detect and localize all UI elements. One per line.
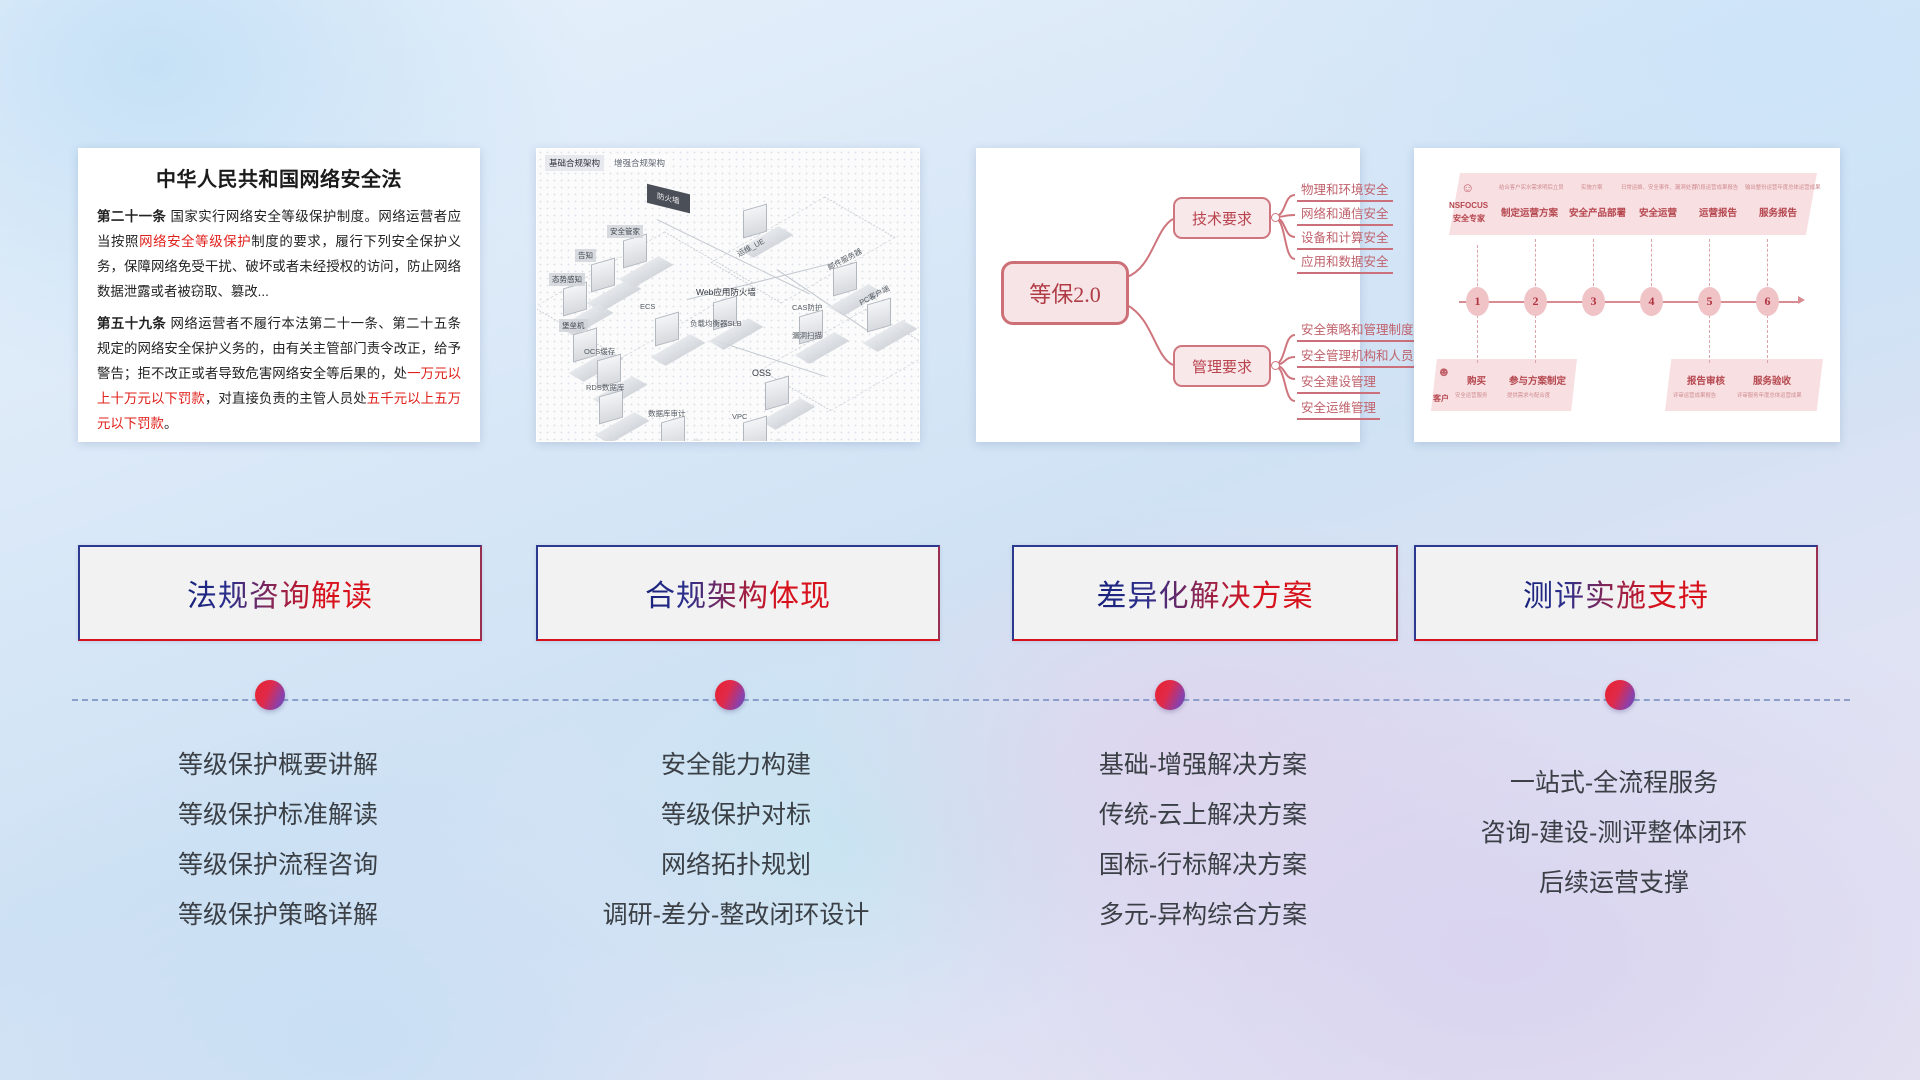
list-item: 后续运营支撑 xyxy=(1414,858,1814,908)
step-6-sub: 输出整份运营年度总体运营成果 xyxy=(1745,183,1820,191)
step-2-main: 制定运营方案 xyxy=(1501,205,1558,219)
step-5-main: 运营报告 xyxy=(1699,205,1737,219)
law-article-59-text-b: ，对直接负责的主管人员处 xyxy=(205,391,367,406)
step-tick xyxy=(1767,315,1768,363)
node-label-db-audit: 数据库审计 xyxy=(645,407,689,420)
detail-column-regulation-consulting: 等级保护概要讲解 等级保护标准解读 等级保护流程咨询 等级保护策略详解 xyxy=(78,740,478,940)
law-article-59-label: 第五十九条 xyxy=(97,316,166,331)
law-article-59-text-c: 。 xyxy=(164,416,177,431)
node-label-security-butler: 安全管家 xyxy=(607,225,643,238)
architecture-diagram: 基础合规架构 增强合规架构 防火墙 安全管家 告知 态势感知 堡垒机 运维_UE… xyxy=(537,149,919,441)
step-3-sub: 实施方案 xyxy=(1581,183,1603,191)
customer-step-plan: 参与方案制定 xyxy=(1509,373,1566,387)
step-tick xyxy=(1535,239,1536,291)
list-item: 等级保护策略详解 xyxy=(78,890,478,940)
customer-step-review: 报告审核 xyxy=(1687,373,1725,387)
law-title: 中华人民共和国网络安全法 xyxy=(97,163,461,192)
customer-step-review-sub: 评审运营成果报告 xyxy=(1673,391,1716,399)
list-item: 等级保护对标 xyxy=(536,790,936,840)
category-button-regulation-consulting[interactable]: 法规咨询解读 xyxy=(78,545,482,641)
timeline-dot-4[interactable] xyxy=(1605,680,1635,710)
detail-list: 等级保护概要讲解 等级保护标准解读 等级保护流程咨询 等级保护策略详解 xyxy=(78,740,478,940)
node-label-slb: 负载均衡器SLB xyxy=(687,317,745,330)
card-compliance-architecture[interactable]: 基础合规架构 增强合规架构 防火墙 安全管家 告知 态势感知 堡垒机 运维_UE… xyxy=(536,148,920,442)
tab-enhanced-architecture[interactable]: 增强合规架构 xyxy=(610,155,669,171)
step-tick xyxy=(1709,239,1710,291)
law-document: 中华人民共和国网络安全法 第二十一条 国家实行网络安全等级保护制度。网络运营者应… xyxy=(79,149,479,441)
list-item: 一站式-全流程服务 xyxy=(1414,758,1814,808)
step-4-main: 安全运营 xyxy=(1639,205,1677,219)
node-label-rds: RDS数据库 xyxy=(583,381,627,394)
detail-list: 安全能力构建 等级保护对标 网络拓扑规划 调研-差分-整改闭环设计 xyxy=(536,740,936,940)
node-icon-rds xyxy=(599,393,645,441)
step-2-sub: 结合客户实水需求明后立员 xyxy=(1499,183,1564,191)
process-step-1[interactable]: 1 xyxy=(1466,287,1489,316)
mindmap-knob-technical[interactable] xyxy=(1271,213,1280,222)
mindmap-leaf-construction-mgmt: 安全建设管理 xyxy=(1297,371,1380,394)
list-item: 基础-增强解决方案 xyxy=(1012,740,1394,790)
step-5-sub: 阶段运营成果报告 xyxy=(1695,183,1738,191)
list-item: 国标-行标解决方案 xyxy=(1012,840,1394,890)
tab-basic-architecture[interactable]: 基础合规架构 xyxy=(545,155,604,171)
node-label-vuln-scan: 漏洞扫描 xyxy=(789,329,825,342)
mindmap-leaf-policy-system: 安全策略和管理制度 xyxy=(1297,319,1418,342)
customer-avatar-icon: ☻ xyxy=(1437,365,1451,378)
node-label-ocs-cache: OCS缓存 xyxy=(581,345,618,358)
list-item: 等级保护流程咨询 xyxy=(78,840,478,890)
mindmap-leaf-network-comm: 网络和通信安全 xyxy=(1297,203,1393,226)
step-3-main: 安全产品部署 xyxy=(1569,205,1626,219)
customer-step-acceptance: 服务验收 xyxy=(1753,373,1791,387)
customer-actor-label: 客户 xyxy=(1433,393,1449,404)
category-button-label: 差异化解决方案 xyxy=(1097,571,1314,615)
timeline-dot-3[interactable] xyxy=(1155,680,1185,710)
category-button-differentiated-solution[interactable]: 差异化解决方案 xyxy=(1012,545,1398,641)
list-item: 咨询-建设-测评整体闭环 xyxy=(1414,808,1814,858)
node-icon-pc-client xyxy=(867,301,913,349)
mindmap-branch-management[interactable]: 管理要求 xyxy=(1173,345,1271,387)
customer-step-purchase-sub: 安全运营服务 xyxy=(1455,391,1487,399)
node-label-situational-awareness: 态势感知 xyxy=(549,273,585,286)
node-label-notify: 告知 xyxy=(575,249,596,262)
process-step-6[interactable]: 6 xyxy=(1756,287,1779,316)
detail-list: 基础-增强解决方案 传统-云上解决方案 国标-行标解决方案 多元-异构综合方案 xyxy=(1012,740,1394,940)
node-label-waf: Web应用防火墙 xyxy=(693,285,759,299)
timeline-dot-2[interactable] xyxy=(715,680,745,710)
list-item: 多元-异构综合方案 xyxy=(1012,890,1394,940)
category-button-label: 测评实施支持 xyxy=(1523,571,1709,615)
detail-column-compliance-architecture: 安全能力构建 等级保护对标 网络拓扑规划 调研-差分-整改闭环设计 xyxy=(536,740,936,940)
card-service-process[interactable]: ☺ NSFOCUS 安全专家 结合客户实水需求明后立员 制定运营方案 实施方案 … xyxy=(1414,148,1840,442)
timeline xyxy=(0,690,1920,720)
mindmap-knob-management[interactable] xyxy=(1271,361,1280,370)
preview-cards-row: 中华人民共和国网络安全法 第二十一条 国家实行网络安全等级保护制度。网络运营者应… xyxy=(0,148,1920,448)
node-label-vpc: VPC xyxy=(729,411,750,422)
mindmap-leaf-ops-mgmt: 安全运维管理 xyxy=(1297,397,1380,420)
node-icon-db-audit xyxy=(661,419,707,441)
customer-step-acceptance-sub: 评审服务年度总体运营成果 xyxy=(1737,391,1802,399)
list-item: 传统-云上解决方案 xyxy=(1012,790,1394,840)
category-button-label: 法规咨询解读 xyxy=(187,571,373,615)
node-label-oss: OSS xyxy=(749,367,774,379)
step-6-main: 服务报告 xyxy=(1759,205,1797,219)
list-item: 调研-差分-整改闭环设计 xyxy=(536,890,936,940)
step-tick xyxy=(1593,239,1594,291)
list-item: 安全能力构建 xyxy=(536,740,936,790)
step-tick xyxy=(1709,315,1710,363)
mindmap-leaf-app-data: 应用和数据安全 xyxy=(1297,251,1393,274)
law-article-21-highlight: 网络安全等级保护 xyxy=(139,234,251,249)
process-axis xyxy=(1459,301,1799,303)
mindmap-leaf-physical-env: 物理和环境安全 xyxy=(1297,179,1393,202)
law-article-21: 第二十一条 国家实行网络安全等级保护制度。网络运营者应当按照网络安全等级保护制度… xyxy=(97,204,461,304)
mindmap-root-node[interactable]: 等保2.0 xyxy=(1001,261,1129,325)
process-step-4[interactable]: 4 xyxy=(1640,287,1663,316)
step-tick xyxy=(1767,239,1768,291)
category-buttons-row: 法规咨询解读 合规架构体现 差异化解决方案 测评实施支持 xyxy=(0,545,1920,645)
vendor-actor-line1: NSFOCUS xyxy=(1449,201,1488,210)
mindmap-diagram: 等保2.0 技术要求 物理和环境安全 网络和通信安全 设备和计算安全 应用和数据… xyxy=(977,149,1359,441)
process-step-3[interactable]: 3 xyxy=(1582,287,1605,316)
process-diagram: ☺ NSFOCUS 安全专家 结合客户实水需求明后立员 制定运营方案 实施方案 … xyxy=(1415,149,1839,441)
detail-column-assessment-support: 一站式-全流程服务 咨询-建设-测评整体闭环 后续运营支撑 xyxy=(1414,758,1814,908)
step-tick xyxy=(1535,315,1536,363)
mindmap-branch-technical[interactable]: 技术要求 xyxy=(1173,197,1271,239)
step-tick xyxy=(1477,315,1478,363)
list-item: 等级保护标准解读 xyxy=(78,790,478,840)
architecture-tabs: 基础合规架构 增强合规架构 xyxy=(545,155,669,171)
process-step-2[interactable]: 2 xyxy=(1524,287,1547,316)
step-tick xyxy=(1651,239,1652,291)
timeline-dot-1[interactable] xyxy=(255,680,285,710)
node-label-ecs: ECS xyxy=(637,301,658,312)
step-4-sub: 日常运维、安全事件、漏洞处置 xyxy=(1621,183,1696,191)
process-step-5[interactable]: 5 xyxy=(1698,287,1721,316)
mindmap-leaf-device-compute: 设备和计算安全 xyxy=(1297,227,1393,250)
node-label-cas: CAS防护 xyxy=(789,301,825,314)
category-button-compliance-architecture[interactable]: 合规架构体现 xyxy=(536,545,940,641)
detail-list: 一站式-全流程服务 咨询-建设-测评整体闭环 后续运营支撑 xyxy=(1414,758,1814,908)
card-cybersecurity-law[interactable]: 中华人民共和国网络安全法 第二十一条 国家实行网络安全等级保护制度。网络运营者应… xyxy=(78,148,480,442)
timeline-dashed-line xyxy=(72,699,1850,701)
process-axis-arrow-icon xyxy=(1798,296,1805,304)
list-item: 等级保护概要讲解 xyxy=(78,740,478,790)
law-article-21-label: 第二十一条 xyxy=(97,209,166,224)
node-icon-vpc xyxy=(743,419,789,441)
step-tick xyxy=(1477,245,1478,291)
list-item: 网络拓扑规划 xyxy=(536,840,936,890)
expert-avatar-icon: ☺ xyxy=(1461,181,1474,194)
card-mindmap-dengbao[interactable]: 等保2.0 技术要求 物理和环境安全 网络和通信安全 设备和计算安全 应用和数据… xyxy=(976,148,1360,442)
category-button-label: 合规架构体现 xyxy=(645,571,831,615)
law-article-59: 第五十九条 网络运营者不履行本法第二十一条、第二十五条规定的网络安全保护义务的，… xyxy=(97,311,461,436)
customer-step-purchase: 购买 xyxy=(1467,373,1486,387)
detail-columns-row: 等级保护概要讲解 等级保护标准解读 等级保护流程咨询 等级保护策略详解 安全能力… xyxy=(0,740,1920,980)
vendor-actor-line2: 安全专家 xyxy=(1453,213,1485,224)
mindmap-leaf-org-personnel: 安全管理机构和人员 xyxy=(1297,345,1418,368)
customer-step-plan-sub: 提供需求与配合度 xyxy=(1507,391,1550,399)
category-button-assessment-support[interactable]: 测评实施支持 xyxy=(1414,545,1818,641)
node-label-bastion: 堡垒机 xyxy=(559,319,588,332)
detail-column-differentiated-solution: 基础-增强解决方案 传统-云上解决方案 国标-行标解决方案 多元-异构综合方案 xyxy=(1012,740,1394,940)
